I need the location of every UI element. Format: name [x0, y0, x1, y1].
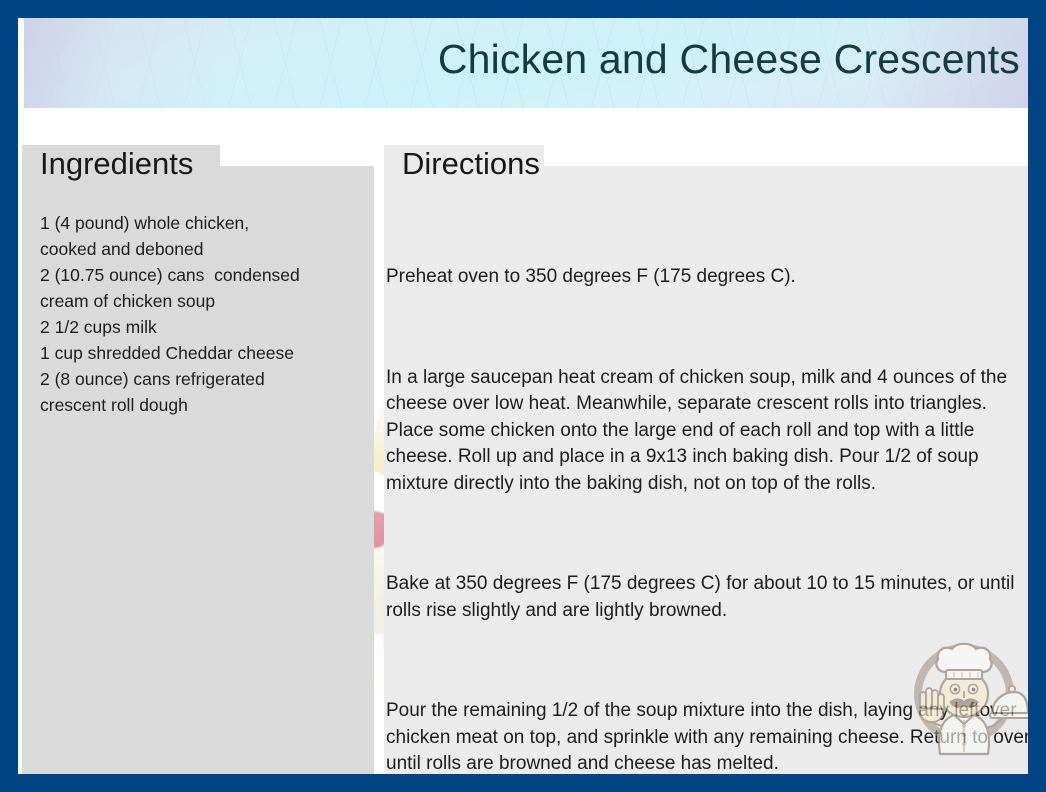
ingredients-heading: Ingredients — [22, 145, 220, 187]
direction-step: Bake at 350 degrees F (175 degrees C) fo… — [386, 571, 1028, 624]
direction-step: In a large saucepan heat cream of chicke… — [386, 365, 1028, 498]
page-title: Chicken and Cheese Crescents — [438, 36, 1020, 83]
recipe-card-slide: Chicken and Cheese Crescents — [0, 0, 1046, 792]
direction-step: Preheat oven to 350 degrees F (175 degre… — [386, 264, 1028, 291]
title-banner: Chicken and Cheese Crescents — [24, 18, 1028, 108]
ingredients-list: 1 (4 pound) whole chicken, cooked and de… — [40, 210, 370, 418]
card-inner-surface: Chicken and Cheese Crescents — [18, 18, 1028, 774]
directions-heading: Directions — [384, 145, 544, 187]
chef-with-cloche-logo — [900, 636, 1028, 762]
